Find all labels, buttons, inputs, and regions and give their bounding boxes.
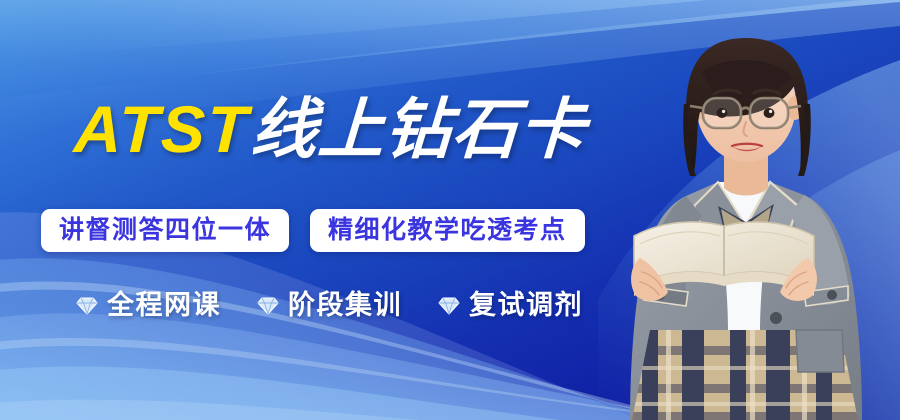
feature-item-3[interactable]: 复试调剂 xyxy=(438,292,583,319)
promo-banner: ATST 线上钻石卡 讲督测答四位一体 精细化教学吃透考点 全程网课 xyxy=(0,0,900,420)
diamond-gem-icon xyxy=(438,296,460,316)
headline-cjk: 线上钻石卡 xyxy=(250,96,588,162)
feature-label-2: 阶段集训 xyxy=(288,292,402,319)
headline: ATST 线上钻石卡 xyxy=(74,96,586,162)
pill-feature-2[interactable]: 精细化教学吃透考点 xyxy=(310,209,585,252)
feature-item-2[interactable]: 阶段集训 xyxy=(257,292,402,319)
diamond-gem-icon xyxy=(76,296,98,316)
feature-label-3: 复试调剂 xyxy=(469,292,583,319)
pill-label-2: 精细化教学吃透考点 xyxy=(328,218,567,243)
feature-item-1[interactable]: 全程网课 xyxy=(76,292,221,319)
pill-row: 讲督测答四位一体 精细化教学吃透考点 xyxy=(41,209,585,252)
headline-latin: ATST xyxy=(73,96,251,162)
feature-label-1: 全程网课 xyxy=(107,292,221,319)
pill-feature-1[interactable]: 讲督测答四位一体 xyxy=(41,209,289,252)
diamond-gem-icon xyxy=(257,296,279,316)
pill-label-1: 讲督测答四位一体 xyxy=(59,218,271,243)
feature-row: 全程网课 阶段集训 复试调剂 xyxy=(76,292,583,319)
